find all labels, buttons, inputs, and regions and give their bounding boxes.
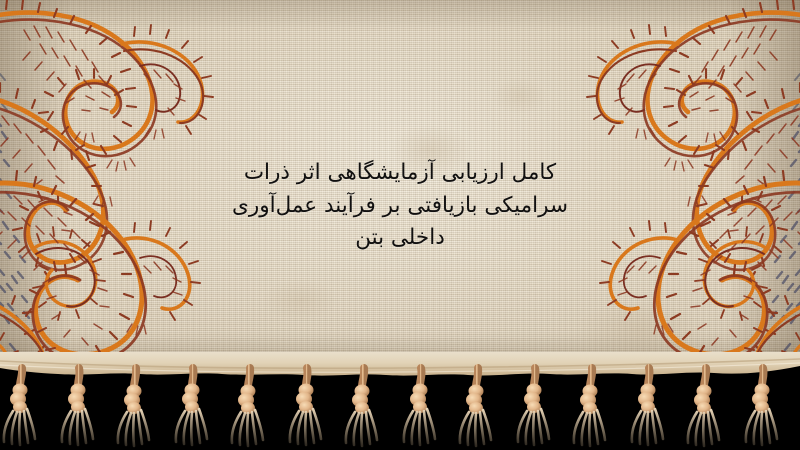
title-line-1: کامل ارزیابی آزمایشگاهی اثر ذرات	[190, 157, 610, 190]
title-line-3: داخلی بتن	[190, 222, 610, 255]
slide-title: کامل ارزیابی آزمایشگاهی اثر ذرات سرامیکی…	[0, 157, 800, 255]
title-slide: کامل ارزیابی آزمایشگاهی اثر ذرات سرامیکی…	[0, 0, 800, 450]
title-line-2: سرامیکی بازیافتی بر فرآیند عمل‌آوری	[190, 190, 610, 223]
tassel-fringe	[0, 352, 800, 450]
